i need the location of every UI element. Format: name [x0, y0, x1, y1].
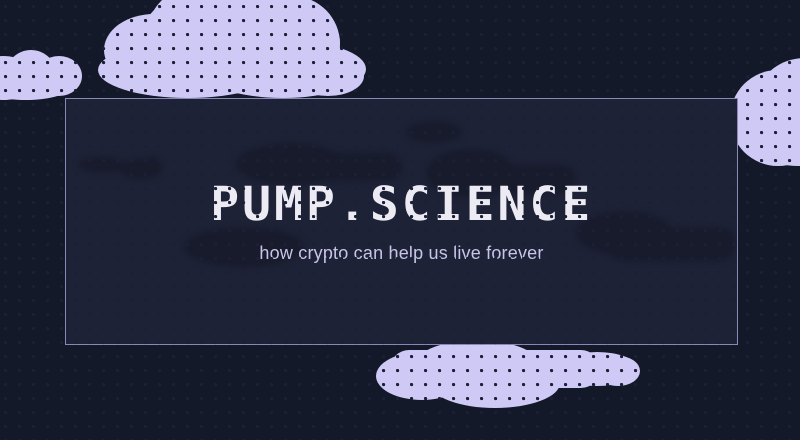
page-subtitle: how crypto can help us live forever	[259, 244, 543, 262]
hero-content: PUMP.SCIENCE how crypto can help us live…	[66, 99, 737, 344]
hero-banner: PUMP.SCIENCE how crypto can help us live…	[0, 0, 800, 440]
page-title: PUMP.SCIENCE	[210, 181, 593, 228]
hero-panel: PUMP.SCIENCE how crypto can help us live…	[65, 98, 738, 345]
